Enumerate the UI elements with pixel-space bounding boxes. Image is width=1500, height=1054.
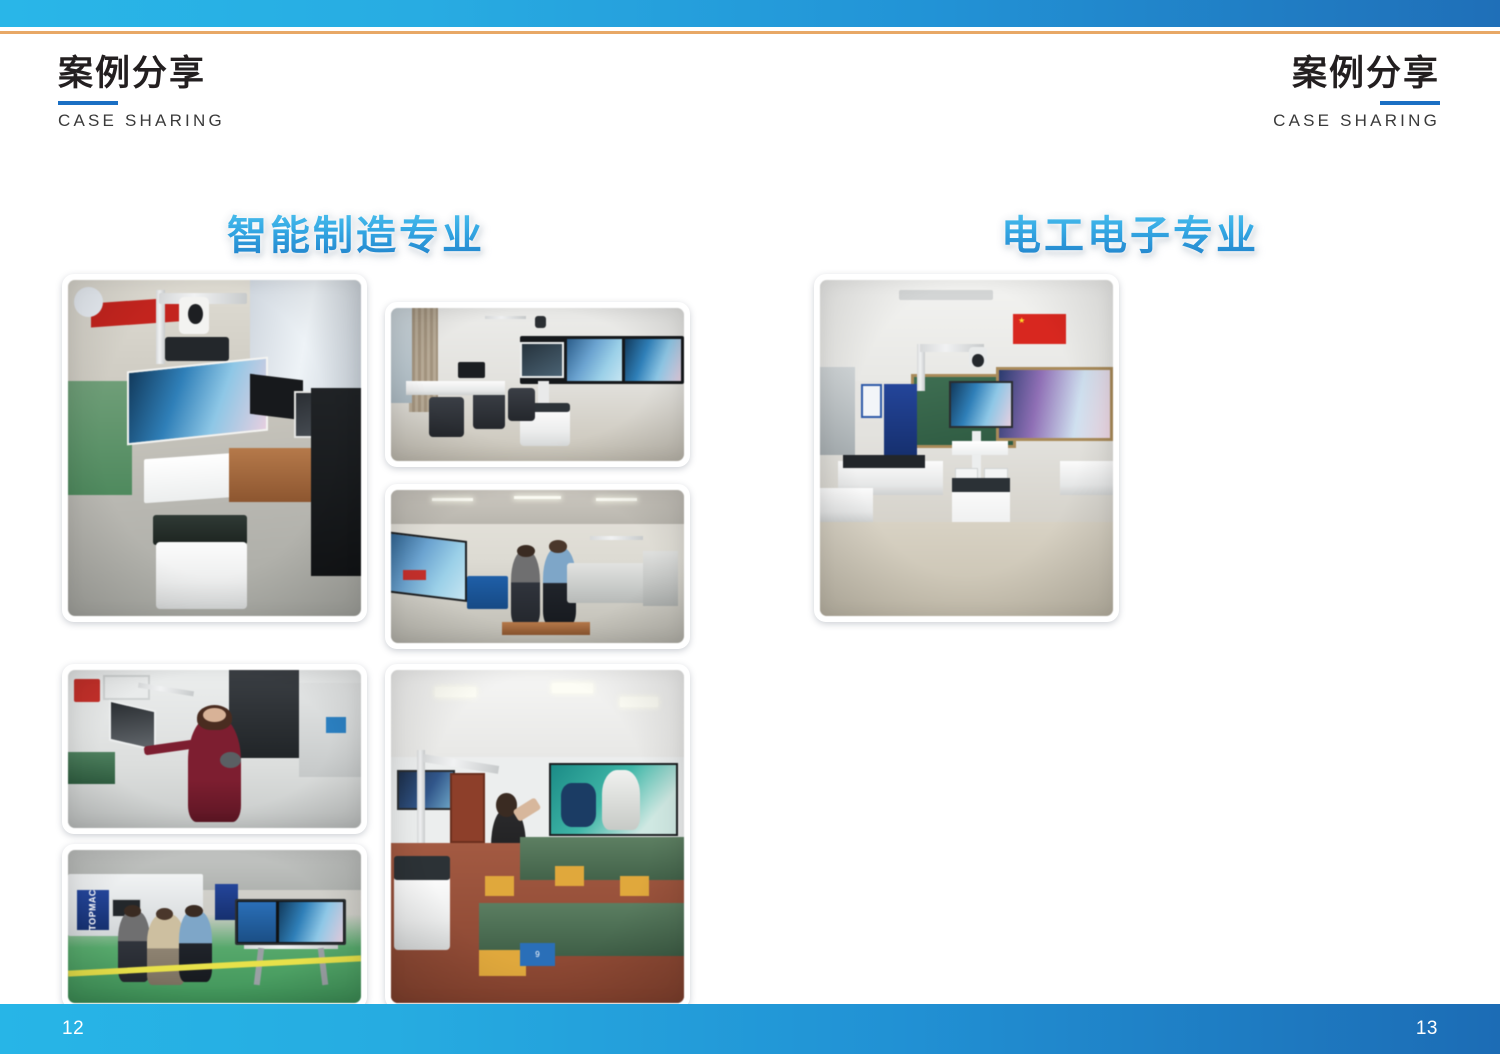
- photo-card: [62, 664, 367, 834]
- photo-card: [814, 274, 1119, 622]
- photo-card: TOPMAC: [62, 844, 367, 1009]
- header-rule: [58, 101, 118, 105]
- left-photo-5: TOPMAC: [68, 850, 361, 1003]
- photo-card: [385, 302, 690, 467]
- photo-card: [385, 484, 690, 649]
- photo-card: [62, 274, 367, 622]
- bottom-accent-bar: [0, 1004, 1500, 1054]
- header-title-cn: 案例分享: [58, 54, 225, 94]
- left-photo-1: [68, 280, 361, 616]
- header-title-en: CASE SHARING: [58, 111, 225, 131]
- left-photo-6: 9: [391, 670, 684, 1003]
- page-number-right: 13: [1416, 1004, 1438, 1054]
- header-left: 案例分享 CASE SHARING: [58, 54, 225, 131]
- left-photo-4: [68, 670, 361, 828]
- header-rule: [1380, 101, 1440, 105]
- section-title-left: 智能制造专业: [0, 203, 750, 261]
- header-right: 案例分享 CASE SHARING: [1273, 54, 1440, 131]
- page-number-left: 12: [62, 1004, 84, 1054]
- slide-left: 案例分享 CASE SHARING 智能制造专业: [0, 34, 750, 1004]
- section-title-right: 电工电子专业: [750, 203, 1500, 261]
- header-title-cn: 案例分享: [1273, 54, 1440, 94]
- photo-card: 9: [385, 664, 690, 1009]
- slide-right: 案例分享 CASE SHARING 电工电子专业: [750, 34, 1500, 1004]
- top-accent-bar: [0, 0, 1500, 27]
- header-title-en: CASE SHARING: [1273, 111, 1440, 131]
- left-photo-2: [391, 308, 684, 461]
- left-photo-3: [391, 490, 684, 643]
- slide-page: 案例分享 CASE SHARING 智能制造专业: [0, 0, 1500, 1054]
- right-photo-1: [820, 280, 1113, 616]
